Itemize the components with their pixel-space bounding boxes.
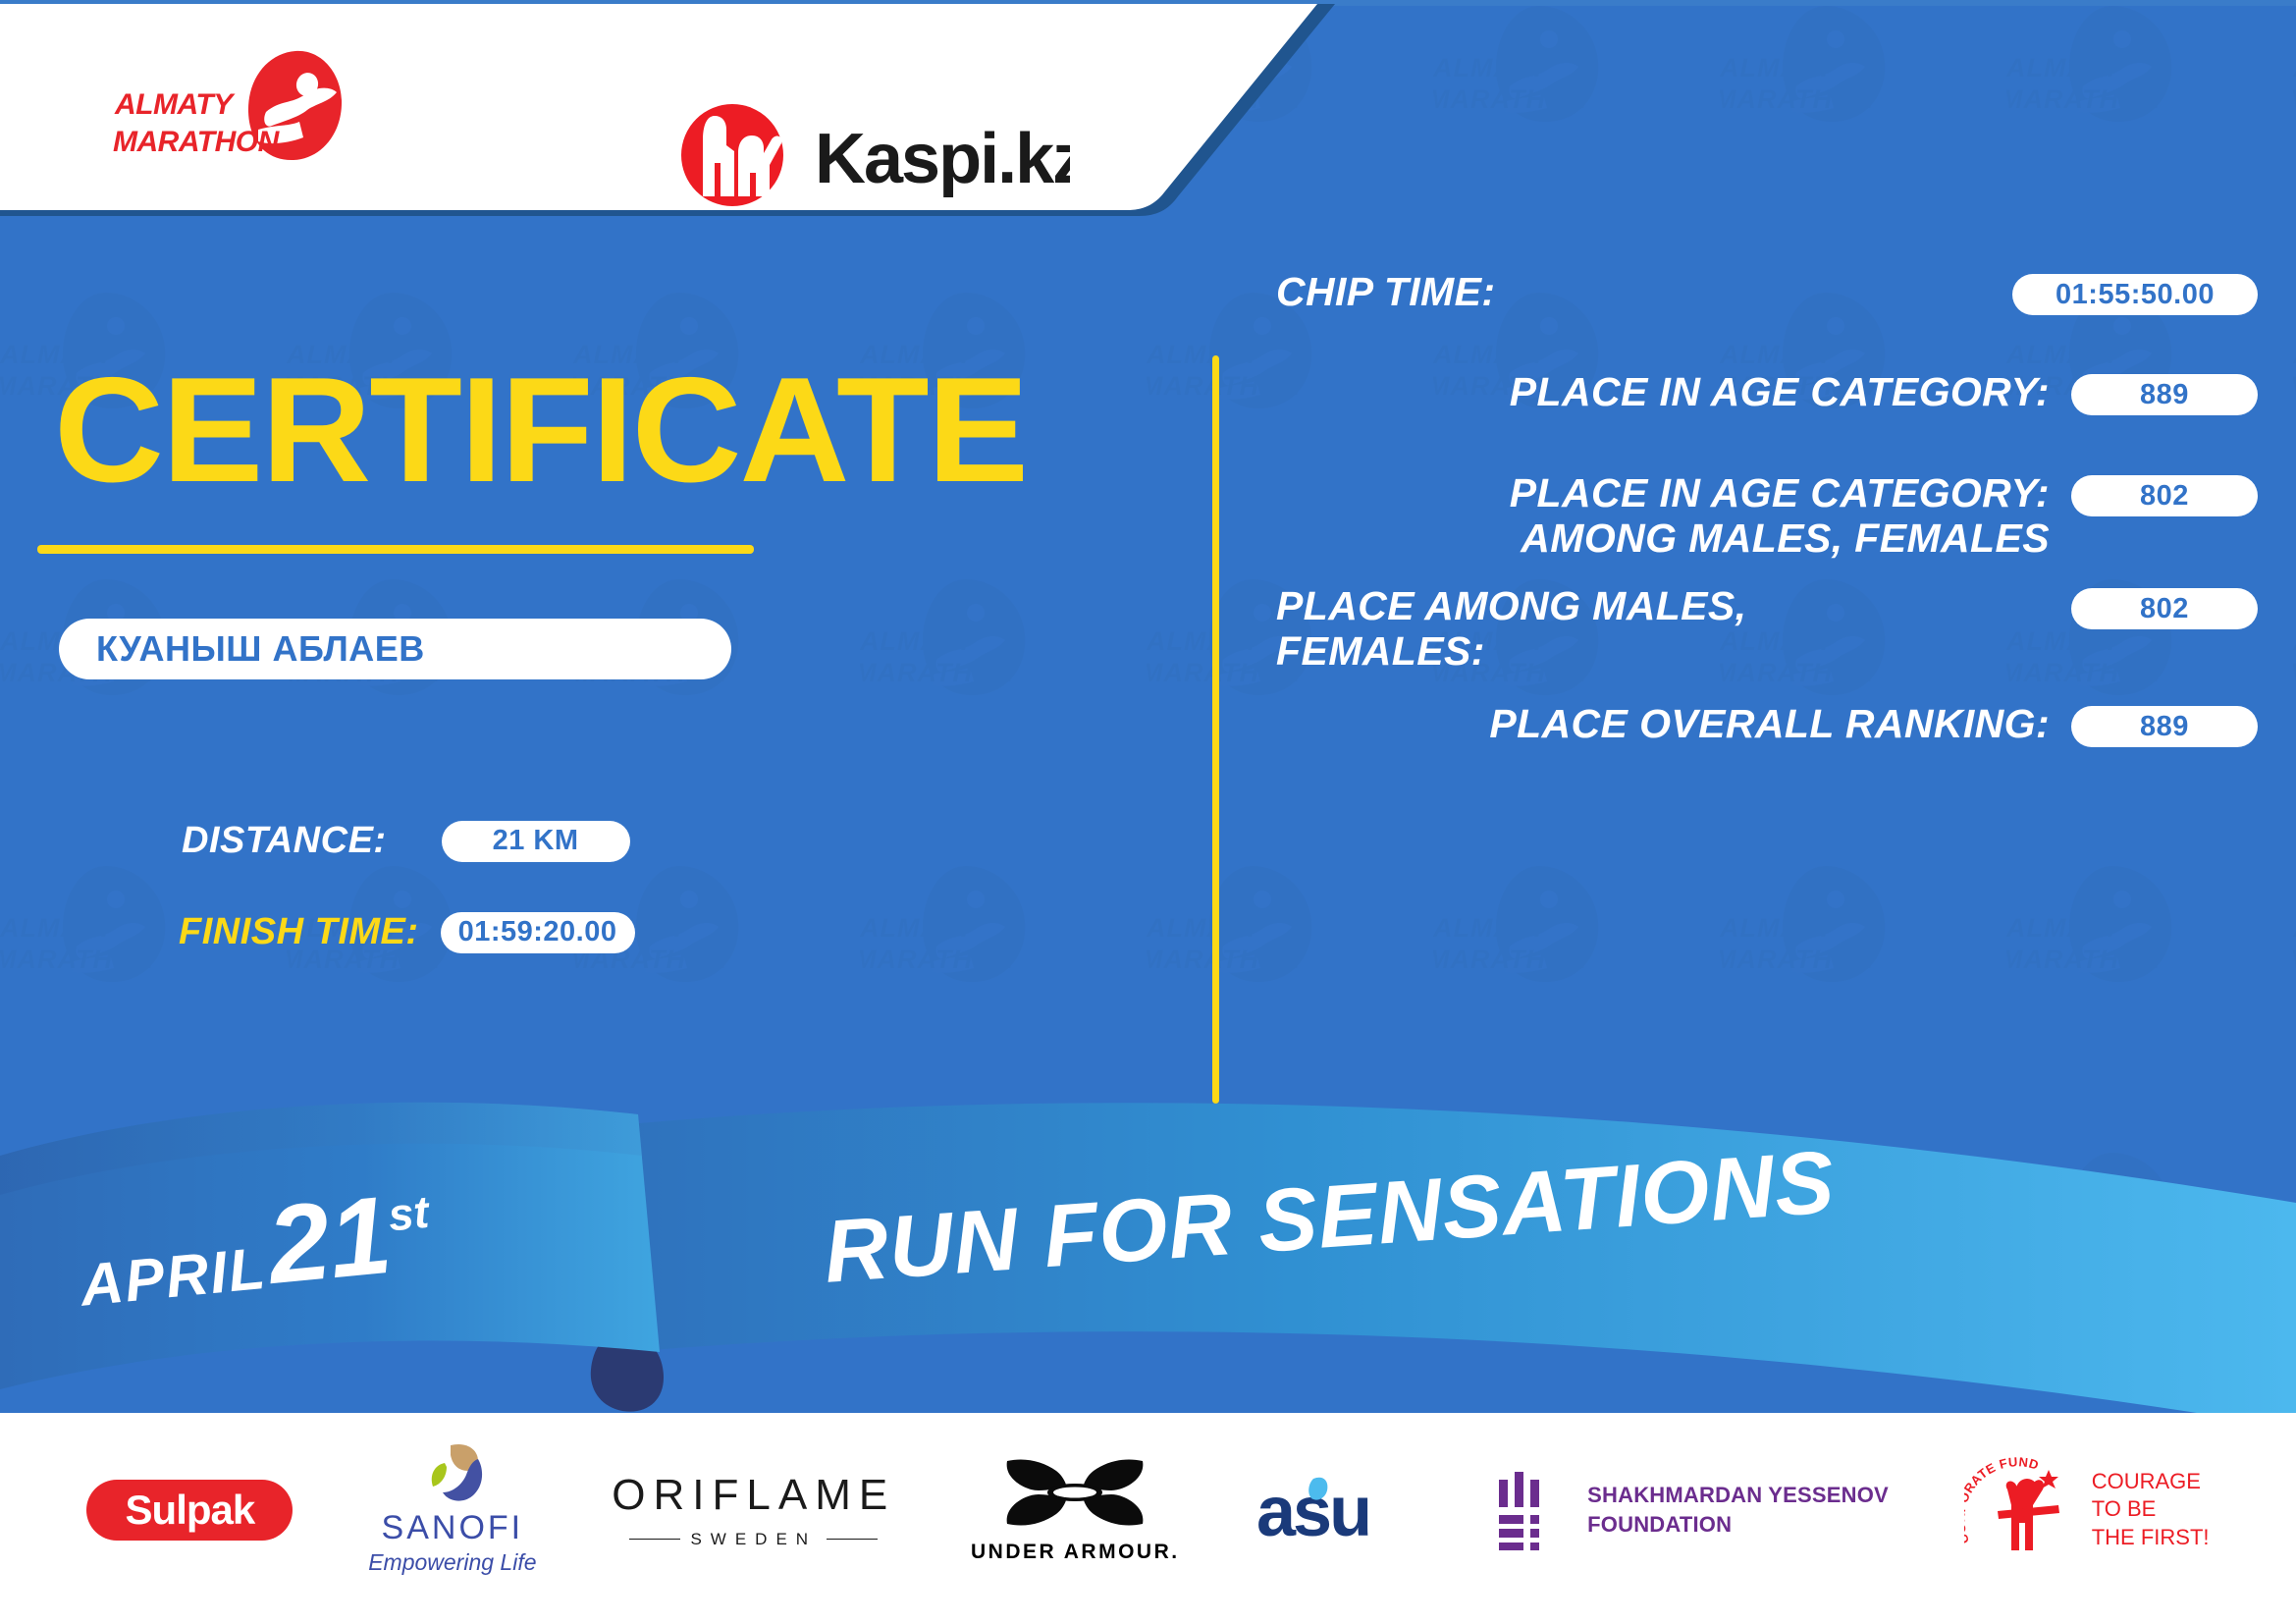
finish-time-label: FINISH TIME: [179, 911, 419, 953]
kaspi-logo: Kaspi.kz [677, 102, 1070, 215]
header-logos: ALMATY MARATHON Kaspi.kz [0, 4, 1178, 284]
result-row-place-age-gender: PLACE IN AGE CATEGORY: AMONG MALES, FEMA… [1276, 471, 2258, 562]
place-age-label: PLACE IN AGE CATEGORY: [1276, 370, 2050, 415]
finish-time-row: FINISH TIME: 01:59:20.00 [179, 911, 635, 953]
under-armour-wordmark: UNDER ARMOUR. [971, 1541, 1180, 1564]
chip-time-value: 01:55:50.00 [2012, 274, 2258, 315]
sponsor-under-armour: UNDER ARMOUR. [971, 1455, 1180, 1564]
sponsor-yessenov-foundation: SHAKHMARDAN YESSENOV FOUNDATION [1497, 1470, 1889, 1550]
sponsor-corporate-fund: CORPORATE FUND COURAGE TO BE THE FIRST! [1964, 1456, 2210, 1564]
corporate-fund-line1: COURAGE [2092, 1468, 2210, 1496]
yessenov-logo: SHAKHMARDAN YESSENOV FOUNDATION [1497, 1470, 1889, 1550]
title-divider [37, 545, 754, 554]
almaty-marathon-logo: ALMATY MARATHON [113, 43, 348, 171]
page-title: CERTIFICATE [54, 355, 1027, 505]
event-day: 21 [263, 1173, 397, 1307]
oriflame-sub: SWEDEN [612, 1530, 895, 1549]
finish-time-value: 01:59:20.00 [441, 912, 635, 953]
yessenov-mark [1497, 1470, 1566, 1550]
yessenov-wordmark: SHAKHMARDAN YESSENOV FOUNDATION [1587, 1481, 1889, 1539]
oriflame-logo: ORIFLAME SWEDEN [612, 1471, 895, 1549]
kaspi-wordmark: Kaspi.kz [815, 120, 1070, 198]
asu-mark: asu [1255, 1471, 1421, 1549]
under-armour-mark [1001, 1455, 1148, 1530]
place-gender-value: 802 [2071, 588, 2258, 629]
place-age-gender-label: PLACE IN AGE CATEGORY: AMONG MALES, FEMA… [1276, 471, 2050, 562]
sponsor-sulpak: Sulpak [86, 1480, 293, 1541]
result-row-place-age: PLACE IN AGE CATEGORY: 889 [1276, 370, 2258, 415]
sanofi-tagline: Empowering Life [368, 1549, 536, 1576]
runner-name-field: КУАНЫШ АБЛАЕВ [59, 619, 731, 679]
result-row-chip-time: CHIP TIME: 01:55:50.00 [1276, 270, 2258, 315]
distance-row: DISTANCE: 21 KM [182, 820, 630, 862]
under-armour-logo: UNDER ARMOUR. [971, 1455, 1180, 1564]
corporate-fund-mark: CORPORATE FUND [1964, 1456, 2082, 1564]
sanofi-wordmark: SANOFI [368, 1509, 536, 1547]
corporate-fund-line3: THE FIRST! [2092, 1524, 2210, 1552]
sanofi-logo: SANOFI Empowering Life [368, 1443, 536, 1576]
yessenov-line1: SHAKHMARDAN YESSENOV [1587, 1481, 1889, 1510]
event-month: APRIL [78, 1235, 270, 1319]
sponsor-sanofi: SANOFI Empowering Life [368, 1443, 536, 1576]
sanofi-mark [405, 1443, 500, 1504]
yessenov-line2: FOUNDATION [1587, 1510, 1889, 1540]
corporate-fund-logo: CORPORATE FUND COURAGE TO BE THE FIRST! [1964, 1456, 2210, 1564]
result-row-place-overall: PLACE OVERALL RANKING: 889 [1276, 702, 2258, 747]
sponsor-oriflame: ORIFLAME SWEDEN [612, 1471, 895, 1549]
result-row-place-gender: PLACE AMONG MALES, FEMALES: 802 [1276, 584, 2258, 675]
place-overall-value: 889 [2071, 706, 2258, 747]
runner-name-value: КУАНЫШ АБЛАЕВ [96, 628, 425, 670]
oriflame-wordmark: ORIFLAME [612, 1471, 895, 1520]
distance-value: 21 KM [442, 821, 630, 862]
svg-text:MARATHON: MARATHON [113, 126, 281, 158]
svg-text:ALMATY: ALMATY [114, 88, 236, 121]
asu-logo: asu [1255, 1471, 1421, 1549]
place-age-gender-label-line1: PLACE IN AGE CATEGORY: [1276, 471, 2050, 516]
chip-time-label: CHIP TIME: [1276, 270, 1991, 315]
corporate-fund-line2: TO BE [2092, 1495, 2210, 1524]
sulpak-logo: Sulpak [86, 1480, 293, 1541]
place-age-gender-label-line2: AMONG MALES, FEMALES [1276, 516, 2050, 562]
place-gender-label-line2: FEMALES: [1276, 629, 2050, 675]
event-day-ordinal: st [386, 1186, 431, 1241]
distance-label: DISTANCE: [182, 820, 387, 862]
place-gender-label-line1: PLACE AMONG MALES, [1276, 584, 2050, 629]
place-overall-label: PLACE OVERALL RANKING: [1276, 702, 2050, 747]
place-gender-label: PLACE AMONG MALES, FEMALES: [1276, 584, 2050, 675]
certificate-page: ALMATY MARATHON ALMATY [0, 0, 2296, 1624]
sponsor-bar: Sulpak SANOFI Empowering Life ORIFLAME S… [0, 1413, 2296, 1624]
place-age-gender-value: 802 [2071, 475, 2258, 516]
sponsor-asu: asu [1255, 1471, 1421, 1549]
place-age-value: 889 [2071, 374, 2258, 415]
corporate-fund-wordmark: COURAGE TO BE THE FIRST! [2092, 1468, 2210, 1552]
column-divider [1212, 355, 1219, 1104]
